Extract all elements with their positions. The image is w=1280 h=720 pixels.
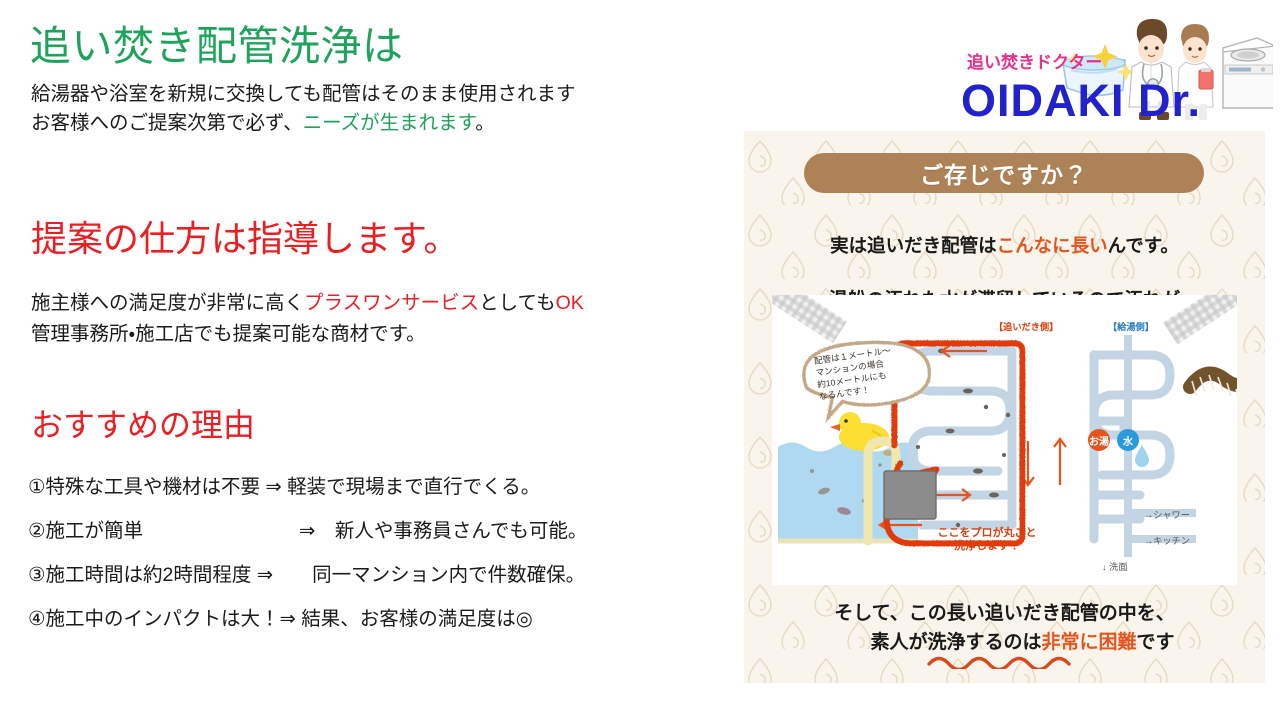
panel-banner: ご存じですか？ xyxy=(804,153,1204,193)
left-content-column: 追い焚き配管洗浄は 給湯器や浴室を新規に交換しても配管はそのまま使用されます お… xyxy=(0,0,740,720)
washi-tape-left xyxy=(772,295,847,343)
list-item: ①特殊な工具や機材は不要 ⇒ 軽装で現場まで直行でくる。 xyxy=(28,473,734,502)
subtext-block-2: 施主様への満足度が非常に高くプラスワンサービスとしてもOK 管理事務所・施工店で… xyxy=(31,288,584,350)
list-item: ③施工時間は約2時間程度 ⇒ 同一マンション内で件数確保。 xyxy=(28,561,734,590)
panel-foot-2-b: です xyxy=(1137,632,1175,653)
outlet-kitchen-label: →キッチン xyxy=(1144,533,1190,547)
subtext-2-line-2: 管理事務所・施工店でも提案可能な商材です。 xyxy=(31,319,584,350)
clean-here-note: ここをプロが丸ごと 洗浄します！ xyxy=(922,527,1052,553)
subtext-2-line-1: 施主様への満足度が非常に高くプラスワンサービスとしてもOK xyxy=(31,288,584,319)
panel-banner-label: ご存じですか？ xyxy=(920,156,1088,190)
cold-water-badge: 水 xyxy=(1117,429,1139,451)
heading-red-proposal: 提案の仕方は指導します。 xyxy=(31,219,459,259)
wavy-underline xyxy=(925,655,1085,669)
subtext-1-line-1: 給湯器や浴室を新規に交換しても配管はそのまま使用されます xyxy=(31,80,575,109)
washi-tape-right xyxy=(1163,295,1237,344)
water-drop-icon xyxy=(1135,445,1149,467)
supply-riser xyxy=(1128,335,1196,557)
label-kyuto-side: 【給湯側】 xyxy=(1108,319,1154,333)
infographic-panel: ご存じですか？ 実は追いだき配管はこんなに長いんです。 湯船の汚れた水が滞留して… xyxy=(744,131,1265,683)
panel-lead-highlight: こんなに長い xyxy=(997,235,1108,256)
logo-brand: OIDAKI Dr. xyxy=(961,75,1201,120)
pipe-diagram: 【追いだき側】 【給湯側】 配管は１メートル〜 マンションの場合 約10メートル… xyxy=(772,295,1237,585)
panel-foot-line-2: 素人が洗浄するのは非常に困難です xyxy=(744,628,1265,657)
subtext-1-highlight: ニーズが生まれます xyxy=(303,112,476,134)
panel-foot-2-a: 素人が洗浄するのは xyxy=(870,632,1041,653)
panel-lead-1-b: んです。 xyxy=(1108,235,1179,256)
panel-lead-line-1: 実は追いだき配管はこんなに長いんです。 xyxy=(744,232,1265,259)
subtext-2-ok: OK xyxy=(556,292,584,314)
panel-footer-text: そして、この長い追いだき配管の中を、 素人が洗浄するのは非常に困難です xyxy=(744,599,1265,657)
panel-foot-line-1: そして、この長い追いだき配管の中を、 xyxy=(744,599,1265,628)
cleaning-unit-icon xyxy=(884,471,936,519)
subtext-1-line-2: お客様へのご提案次第で必ず、ニーズが生まれます。 xyxy=(31,109,575,138)
subtext-block-1: 給湯器や浴室を新規に交換しても配管はそのまま使用されます お客様へのご提案次第で… xyxy=(31,80,575,138)
slide-root: 追い焚き配管洗浄は 給湯器や浴室を新規に交換しても配管はそのまま使用されます お… xyxy=(0,0,1280,720)
subtext-1-line-2-b: 。 xyxy=(475,112,495,134)
washing-machine-icon xyxy=(1223,38,1273,108)
subtext-2-line-1-a: 施主様への満足度が非常に高く xyxy=(31,292,304,314)
heading-green: 追い焚き配管洗浄は xyxy=(30,24,404,70)
subtext-2-highlight: プラスワンサービス xyxy=(304,292,479,314)
hot-water-badge: お湯 xyxy=(1088,429,1110,451)
reason-list: ①特殊な工具や機材は不要 ⇒ 軽装で現場まで直行でくる。 ②施工が簡単 ⇒ 新人… xyxy=(28,473,734,649)
panel-lead-1-a: 実は追いだき配管は xyxy=(830,235,997,256)
label-oidaki-side: 【追いだき側】 xyxy=(994,319,1058,333)
brand-logo: 追い焚きドクター OIDAKI Dr. xyxy=(955,8,1273,120)
outlet-shower-label: →シャワー xyxy=(1144,507,1190,521)
list-item: ④施工中のインパクトは大！⇒ 結果、お客様の満足度は◎ xyxy=(28,605,734,634)
heading-red-reasons: おすすめの理由 xyxy=(31,408,255,444)
logo-tagline: 追い焚きドクター xyxy=(967,52,1102,72)
list-item: ②施工が簡単 ⇒ 新人や事務員さんでも可能。 xyxy=(28,517,734,546)
subtext-2-line-1-b: としても xyxy=(479,292,555,314)
subtext-1-line-2-a: お客様へのご提案次第で必ず、 xyxy=(31,112,303,134)
outlet-senmen-label: ↓ 洗面 xyxy=(1102,559,1128,573)
brown-hose xyxy=(1190,374,1237,400)
panel-foot-highlight: 非常に困難 xyxy=(1041,632,1136,653)
